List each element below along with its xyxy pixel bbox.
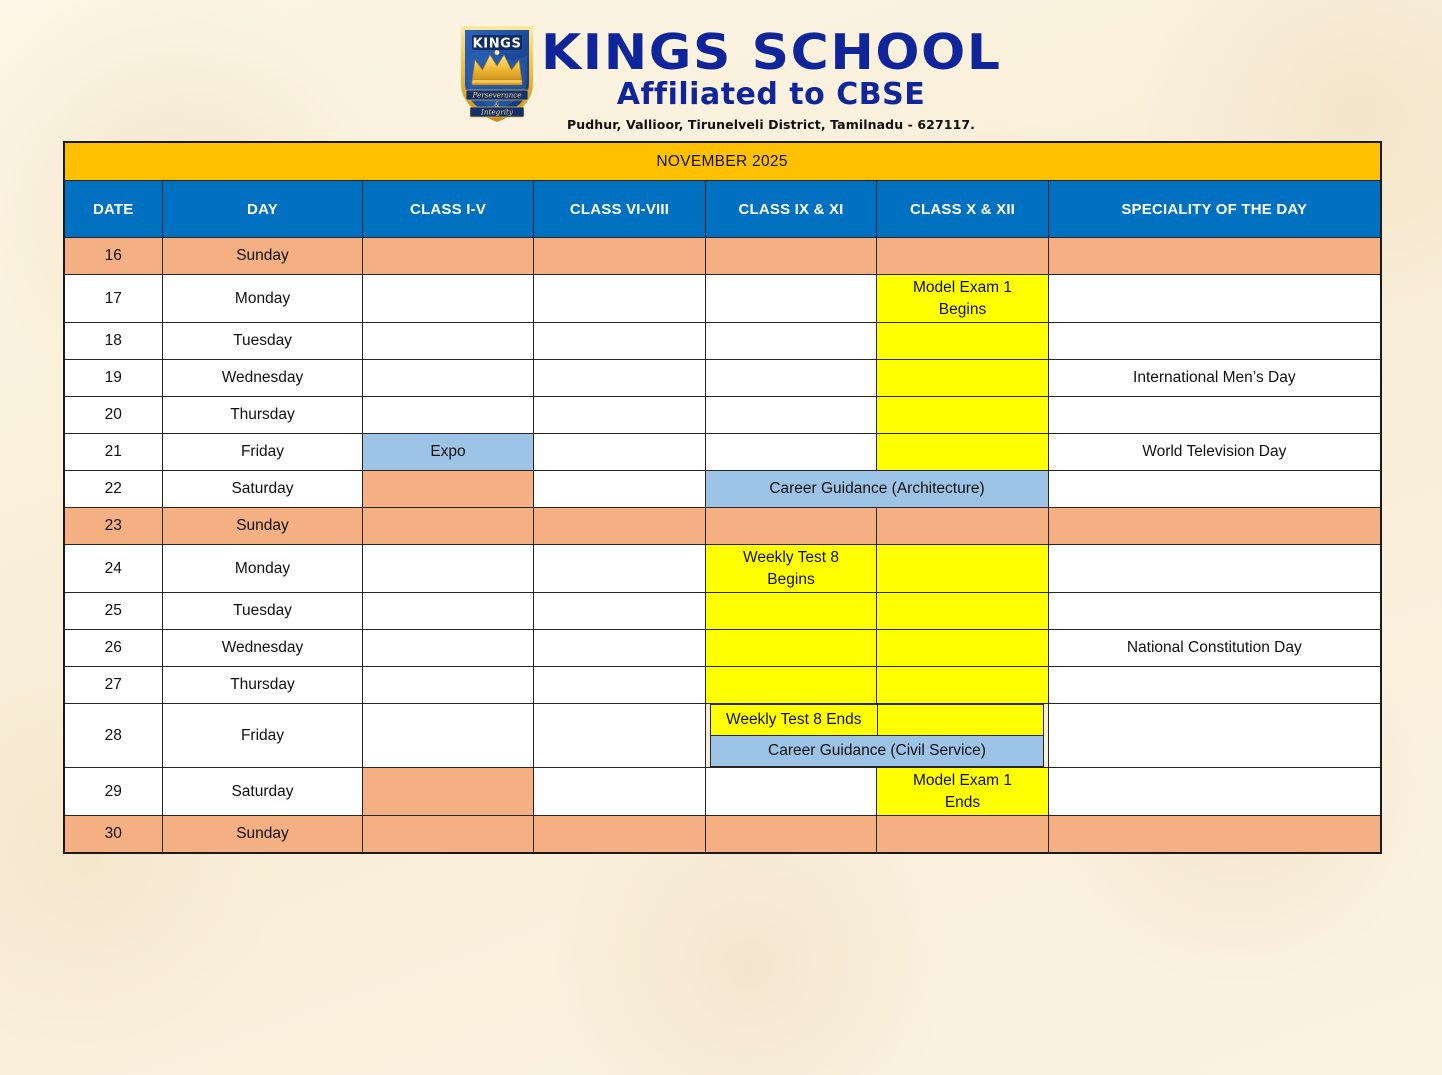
cell-class-9-11 — [706, 508, 877, 545]
calendar-row: 22SaturdayCareer Guidance (Architecture) — [64, 471, 1381, 508]
cell-class-9-11 — [706, 275, 877, 323]
cell-class-6-8 — [534, 704, 706, 768]
cell-class-1-5 — [363, 275, 534, 323]
cell-date: 29 — [64, 768, 163, 816]
cell-date: 30 — [64, 816, 163, 854]
school-affiliation: Affiliated to CBSE — [617, 79, 925, 111]
cell-day: Tuesday — [163, 593, 363, 630]
cell-merged-event[interactable]: Career Guidance (Architecture) — [706, 471, 1049, 508]
cell-speciality — [1049, 275, 1381, 323]
calendar-row: 27Thursday — [64, 667, 1381, 704]
cell-class-1-5 — [363, 593, 534, 630]
cell-class-1-5 — [363, 816, 534, 854]
svg-text:Perseverance: Perseverance — [471, 91, 521, 100]
cell-class-6-8 — [534, 816, 706, 854]
cell-class-9-11 — [706, 630, 877, 667]
cell-day: Sunday — [163, 508, 363, 545]
cell-class-6-8 — [534, 471, 706, 508]
cell-class-9-11[interactable]: Weekly Test 8 Ends — [711, 705, 878, 736]
cell-merged-event[interactable]: Career Guidance (Civil Service) — [711, 736, 1044, 767]
cell-class-9-11 — [706, 434, 877, 471]
cell-speciality — [1049, 545, 1381, 593]
cell-day: Friday — [163, 434, 363, 471]
cell-speciality — [1049, 397, 1381, 434]
svg-text:Integrity: Integrity — [480, 108, 514, 117]
cell-class-9-11 — [706, 768, 877, 816]
cell-day: Monday — [163, 275, 363, 323]
cell-class-10-12 — [877, 508, 1049, 545]
calendar-row: 17MondayModel Exam 1Begins — [64, 275, 1381, 323]
cell-day: Wednesday — [163, 630, 363, 667]
cell-day: Saturday — [163, 768, 363, 816]
cell-class-1-5 — [363, 704, 534, 768]
column-header-speciality: SPECIALITY OF THE DAY — [1049, 181, 1381, 238]
cell-class-10-12 — [877, 238, 1049, 275]
school-name: KINGS SCHOOL — [541, 28, 1002, 78]
cell-day: Friday — [163, 704, 363, 768]
cell-class-9-11 — [706, 323, 877, 360]
cell-class-10-12 — [877, 667, 1049, 704]
school-crest-logo: KINGS Perseverance & Integrity — [454, 22, 540, 126]
calendar-body: 16Sunday17MondayModel Exam 1Begins18Tues… — [64, 238, 1381, 854]
cell-day: Thursday — [163, 667, 363, 704]
cell-class-10-12 — [877, 545, 1049, 593]
calendar-row: 26WednesdayNational Constitution Day — [64, 630, 1381, 667]
calendar-row: 23Sunday — [64, 508, 1381, 545]
cell-day: Sunday — [163, 238, 363, 275]
cell-date: 27 — [64, 667, 163, 704]
monthly-calendar-table: NOVEMBER 2025 DATE DAY CLASS I-V CLASS V… — [63, 141, 1382, 854]
cell-class-6-8 — [534, 360, 706, 397]
cell-class-10-12 — [877, 323, 1049, 360]
cell-speciality — [1049, 593, 1381, 630]
cell-speciality: World Television Day — [1049, 434, 1381, 471]
cell-speciality — [1049, 768, 1381, 816]
cell-class-9-11 — [706, 238, 877, 275]
calendar-row: 29SaturdayModel Exam 1Ends — [64, 768, 1381, 816]
cell-date: 20 — [64, 397, 163, 434]
cell-class-10-12 — [877, 593, 1049, 630]
cell-day: Tuesday — [163, 323, 363, 360]
cell-date: 28 — [64, 704, 163, 768]
cell-class-10-12[interactable]: Model Exam 1Ends — [877, 768, 1049, 816]
cell-class-9-11 — [706, 360, 877, 397]
cell-date: 19 — [64, 360, 163, 397]
cell-speciality — [1049, 667, 1381, 704]
cell-date: 24 — [64, 545, 163, 593]
month-title: NOVEMBER 2025 — [64, 142, 1381, 181]
month-title-row: NOVEMBER 2025 — [64, 142, 1381, 181]
cell-class-6-8 — [534, 238, 706, 275]
cell-day: Monday — [163, 545, 363, 593]
cell-date: 18 — [64, 323, 163, 360]
column-header-class-9-11: CLASS IX & XI — [706, 181, 877, 238]
cell-class-6-8 — [534, 545, 706, 593]
column-header-date: DATE — [64, 181, 163, 238]
cell-day: Thursday — [163, 397, 363, 434]
cell-class-6-8 — [534, 667, 706, 704]
calendar-row: 30Sunday — [64, 816, 1381, 854]
cell-class-1-5 — [363, 397, 534, 434]
cell-speciality — [1049, 471, 1381, 508]
split-row-top: Weekly Test 8 Ends — [711, 705, 1044, 736]
cell-class-1-5 — [363, 768, 534, 816]
cell-speciality — [1049, 704, 1381, 768]
cell-class-9-11[interactable]: Weekly Test 8Begins — [706, 545, 877, 593]
cell-class-6-8 — [534, 275, 706, 323]
cell-class-1-5 — [363, 630, 534, 667]
cell-date: 26 — [64, 630, 163, 667]
cell-class-1-5 — [363, 471, 534, 508]
calendar-row: 19WednesdayInternational Men’s Day — [64, 360, 1381, 397]
column-header-row: DATE DAY CLASS I-V CLASS VI-VIII CLASS I… — [64, 181, 1381, 238]
cell-date: 22 — [64, 471, 163, 508]
cell-class-6-8 — [534, 508, 706, 545]
cell-class-9-11 — [706, 397, 877, 434]
cell-class-6-8 — [534, 434, 706, 471]
cell-day: Wednesday — [163, 360, 363, 397]
cell-date: 16 — [64, 238, 163, 275]
cell-class-10-12 — [877, 434, 1049, 471]
cell-speciality — [1049, 816, 1381, 854]
svg-text:KINGS: KINGS — [472, 36, 521, 51]
cell-day: Sunday — [163, 816, 363, 854]
cell-class-6-8 — [534, 593, 706, 630]
column-header-class-1-5: CLASS I-V — [363, 181, 534, 238]
column-header-class-10-12: CLASS X & XII — [877, 181, 1049, 238]
calendar-row: 28FridayWeekly Test 8 EndsCareer Guidanc… — [64, 704, 1381, 768]
calendar-row: 21FridayExpoWorld Television Day — [64, 434, 1381, 471]
calendar-row: 20Thursday — [64, 397, 1381, 434]
split-row-bottom: Career Guidance (Civil Service) — [711, 736, 1044, 767]
cell-class-9-11 — [706, 816, 877, 854]
calendar-row: 16Sunday — [64, 238, 1381, 275]
cell-class-1-5 — [363, 545, 534, 593]
calendar-container: NOVEMBER 2025 DATE DAY CLASS I-V CLASS V… — [63, 141, 1380, 854]
cell-class-10-12[interactable]: Model Exam 1Begins — [877, 275, 1049, 323]
cell-date: 21 — [64, 434, 163, 471]
cell-date: 23 — [64, 508, 163, 545]
calendar-row: 24MondayWeekly Test 8Begins — [64, 545, 1381, 593]
school-address: Pudhur, Vallioor, Tirunelveli District, … — [567, 117, 975, 132]
cell-class-6-8 — [534, 323, 706, 360]
cell-class-6-8 — [534, 768, 706, 816]
calendar-row: 25Tuesday — [64, 593, 1381, 630]
column-header-class-6-8: CLASS VI-VIII — [534, 181, 706, 238]
cell-class-10-12 — [877, 360, 1049, 397]
cell-class-1-5 — [363, 238, 534, 275]
cell-class-1-5 — [363, 667, 534, 704]
cell-class-10-12 — [877, 816, 1049, 854]
cell-speciality — [1049, 323, 1381, 360]
cell-class-1-5[interactable]: Expo — [363, 434, 534, 471]
calendar-row: 18Tuesday — [64, 323, 1381, 360]
cell-class-10-12 — [877, 397, 1049, 434]
cell-split-host: Weekly Test 8 EndsCareer Guidance (Civil… — [706, 704, 1049, 768]
cell-class-6-8 — [534, 397, 706, 434]
school-header: KINGS Perseverance & Integrity KINGS SCH… — [0, 0, 1442, 122]
cell-class-10-12 — [877, 705, 1044, 736]
cell-class-1-5 — [363, 360, 534, 397]
cell-class-9-11 — [706, 593, 877, 630]
cell-class-1-5 — [363, 508, 534, 545]
school-title-block: KINGS SCHOOL Affiliated to CBSE Pudhur, … — [554, 22, 989, 132]
cell-class-9-11 — [706, 667, 877, 704]
cell-class-1-5 — [363, 323, 534, 360]
cell-class-6-8 — [534, 630, 706, 667]
cell-speciality — [1049, 508, 1381, 545]
cell-class-10-12 — [877, 630, 1049, 667]
cell-speciality — [1049, 238, 1381, 275]
cell-speciality: National Constitution Day — [1049, 630, 1381, 667]
crest-icon: KINGS Perseverance & Integrity — [454, 22, 540, 126]
cell-day: Saturday — [163, 471, 363, 508]
cell-date: 25 — [64, 593, 163, 630]
cell-speciality: International Men’s Day — [1049, 360, 1381, 397]
cell-date: 17 — [64, 275, 163, 323]
column-header-day: DAY — [163, 181, 363, 238]
